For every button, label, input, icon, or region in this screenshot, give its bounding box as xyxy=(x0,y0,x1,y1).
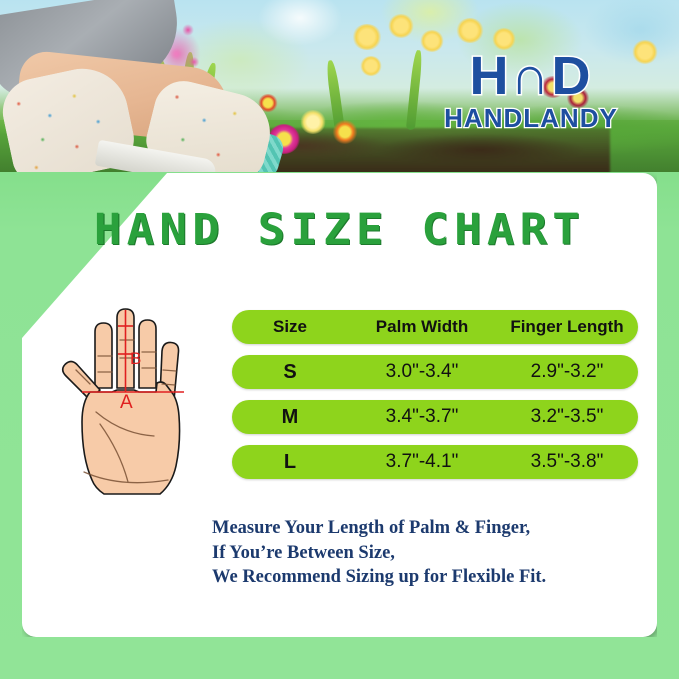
garden-photo-banner: H∩D HANDLANDY xyxy=(0,0,679,172)
daffodil-bloom xyxy=(388,14,414,38)
cell-palm-width: 3.7"-4.1" xyxy=(348,451,496,473)
brand-logo: H∩D HANDLANDY xyxy=(424,48,638,134)
daffodil-bloom xyxy=(352,24,382,50)
cell-size: S xyxy=(232,361,348,384)
cell-palm-width: 3.0"-3.4" xyxy=(348,361,496,383)
cell-size: L xyxy=(232,451,348,474)
table-row: S 3.0"-3.4" 2.9"-3.2" xyxy=(232,355,638,389)
table-row: M 3.4"-3.7" 3.2"-3.5" xyxy=(232,400,638,434)
note-line-2: If You’re Between Size, xyxy=(212,541,642,566)
logo-letter-d: D xyxy=(552,48,593,104)
daffodil-bloom xyxy=(456,18,484,43)
primrose-flower xyxy=(300,110,326,134)
primrose-flower xyxy=(332,120,358,144)
logo-monogram: H∩D xyxy=(424,48,638,104)
table-row: L 3.7"-4.1" 3.5"-3.8" xyxy=(232,445,638,479)
hand-size-chart-infographic: H∩D HANDLANDY HAND SIZE CHART xyxy=(0,0,679,679)
logo-letter-h: H xyxy=(470,48,511,104)
header-size: Size xyxy=(232,317,348,337)
hand-measurement-diagram: B A xyxy=(38,296,218,508)
cell-palm-width: 3.4"-3.7" xyxy=(348,406,496,428)
header-palm-width: Palm Width xyxy=(348,317,496,337)
cell-finger-length: 3.5"-3.8" xyxy=(496,451,638,473)
page-title: HAND SIZE CHART xyxy=(3,205,676,255)
cell-size: M xyxy=(232,406,348,429)
table-header-row: Size Palm Width Finger Length xyxy=(232,310,638,344)
header-finger-length: Finger Length xyxy=(496,317,638,337)
size-table: Size Palm Width Finger Length S 3.0"-3.4… xyxy=(232,310,638,479)
cell-finger-length: 2.9"-3.2" xyxy=(496,361,638,383)
label-a: A xyxy=(120,392,133,413)
sizing-note: Measure Your Length of Palm & Finger, If… xyxy=(212,516,642,590)
logo-wordmark: HANDLANDY xyxy=(424,104,638,132)
cell-finger-length: 3.2"-3.5" xyxy=(496,406,638,428)
note-line-3: We Recommend Sizing up for Flexible Fit. xyxy=(212,565,642,590)
label-b: B xyxy=(130,349,141,368)
note-line-1: Measure Your Length of Palm & Finger, xyxy=(212,516,642,541)
logo-letter-n: ∩ xyxy=(511,48,552,104)
daffodil-bloom xyxy=(360,56,382,76)
